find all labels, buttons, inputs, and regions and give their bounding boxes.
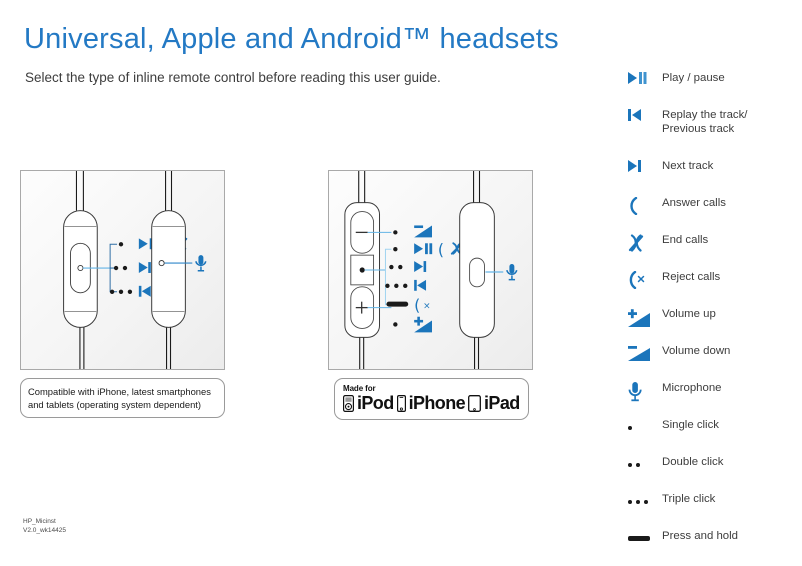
iphone-icon (397, 395, 406, 412)
legend-label: Single click (662, 417, 719, 432)
legend-label: Answer calls (662, 195, 726, 210)
one-button-remote-diagram: ( (20, 170, 225, 370)
icon-legend: Play / pause Replay the track/ Previous … (628, 70, 798, 565)
legend-label: Volume down (662, 343, 730, 358)
play-pause-icon (628, 70, 662, 84)
made-for-label: Made for (343, 384, 520, 393)
volume-up-icon (628, 306, 662, 328)
next-track-icon (628, 158, 662, 172)
volume-down-icon (628, 343, 662, 363)
ipad-label: iPad (484, 394, 520, 413)
legend-item-triple-click: Triple click (628, 491, 798, 528)
legend-label: Double click (662, 454, 723, 469)
single-click-icon (628, 417, 662, 430)
legend-label: Play / pause (662, 70, 725, 85)
document-footer: HP_Micinst V2.0_wk14425 (23, 518, 66, 535)
reject-call-icon (628, 269, 662, 289)
user-guide-page: Universal, Apple and Android™ headsets S… (0, 0, 802, 566)
legend-item-volume-down: Volume down (628, 343, 798, 380)
legend-item-previous-track: Replay the track/ Previous track (628, 107, 798, 158)
legend-item-play-pause: Play / pause (628, 70, 798, 107)
page-subtitle: Select the type of inline remote control… (25, 70, 441, 85)
legend-label: Reject calls (662, 269, 720, 284)
legend-label: Microphone (662, 380, 722, 395)
legend-item-end-calls: End calls (628, 232, 798, 269)
ipod-label: iPod (357, 394, 394, 413)
footer-line-2: V2.0_wk14425 (23, 527, 66, 536)
page-title: Universal, Apple and Android™ headsets (24, 23, 559, 56)
three-button-remote-diagram: ( ( × (328, 170, 533, 370)
ipad-icon (468, 395, 481, 412)
compatibility-caption: Compatible with iPhone, latest smartphon… (20, 378, 225, 418)
legend-item-microphone: Microphone (628, 380, 798, 417)
end-call-icon (628, 232, 662, 252)
svg-text:(: ( (438, 240, 444, 259)
made-for-apple-badge: Made for iPod iPhone iPad (334, 378, 529, 420)
legend-item-press-and-hold: Press and hold (628, 528, 798, 565)
previous-track-icon (628, 107, 662, 121)
legend-item-volume-up: Volume up (628, 306, 798, 343)
legend-label: Volume up (662, 306, 716, 321)
legend-label: End calls (662, 232, 708, 247)
microphone-icon (628, 380, 662, 402)
iphone-label: iPhone (409, 394, 465, 413)
ipod-icon (343, 395, 354, 412)
legend-label: Next track (662, 158, 713, 173)
compatibility-caption-text: Compatible with iPhone, latest smartphon… (21, 379, 224, 411)
legend-item-answer-calls: Answer calls (628, 195, 798, 232)
answer-call-icon (628, 195, 662, 215)
legend-item-double-click: Double click (628, 454, 798, 491)
legend-item-reject-calls: Reject calls (628, 269, 798, 306)
legend-item-next-track: Next track (628, 158, 798, 195)
legend-item-single-click: Single click (628, 417, 798, 454)
press-hold-icon (628, 528, 662, 541)
svg-text:×: × (423, 302, 430, 312)
legend-label: Replay the track/ Previous track (662, 107, 747, 136)
footer-line-1: HP_Micinst (23, 518, 66, 527)
svg-text:(: ( (414, 296, 420, 315)
double-click-icon (628, 454, 662, 467)
triple-click-icon (628, 491, 662, 504)
legend-label: Triple click (662, 491, 715, 506)
legend-label: Press and hold (662, 528, 738, 543)
